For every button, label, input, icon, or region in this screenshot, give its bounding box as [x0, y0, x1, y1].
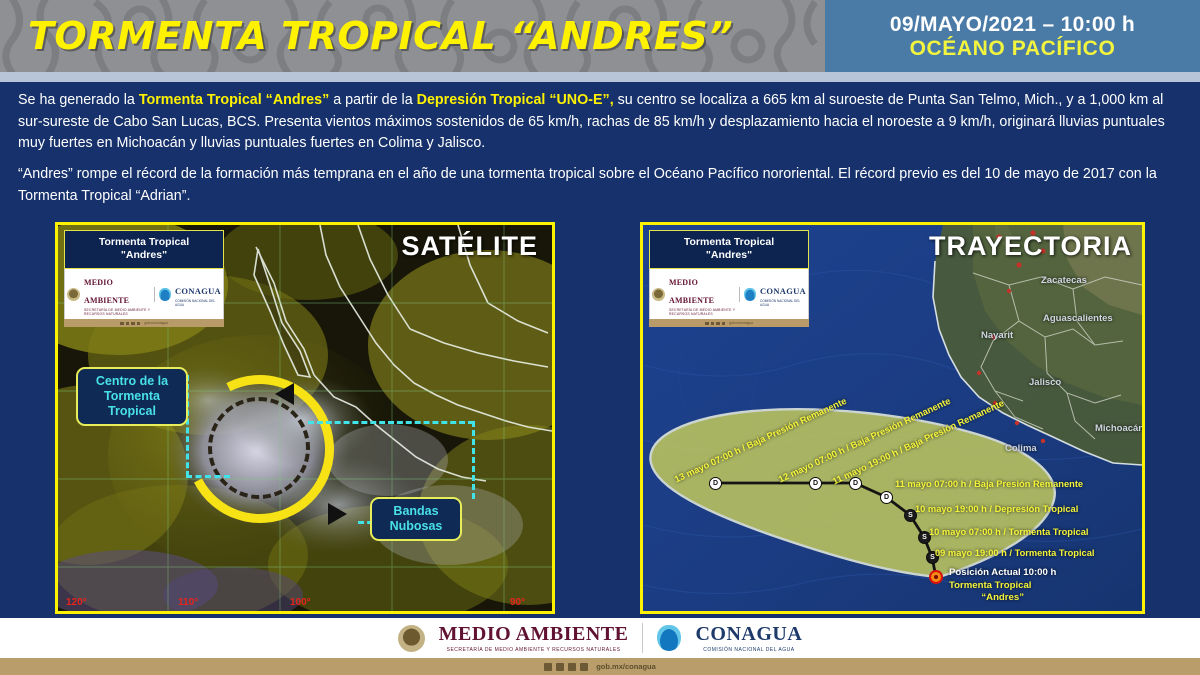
- sat-coord-100: 100°: [290, 597, 311, 608]
- current-position-line2: Tormenta Tropical: [949, 580, 1056, 593]
- mexico-seal-icon: [67, 288, 80, 301]
- current-position-label: Posición Actual 10:00 h Tormenta Tropica…: [949, 567, 1056, 605]
- track-label-10mayo-1900: 10 mayo 19:00 h / Depresión Tropical: [915, 504, 1078, 514]
- facebook-icon[interactable]: [544, 663, 552, 671]
- mexico-seal-icon: [398, 625, 425, 652]
- medio-ambiente-label: MEDIO AMBIENTE: [84, 278, 129, 305]
- logo-divider: [739, 287, 740, 302]
- medio-ambiente-sublabel: SECRETARÍA DE MEDIO AMBIENTE Y RECURSOS …: [669, 308, 735, 316]
- footer-url[interactable]: gob.mx/conagua: [596, 662, 656, 671]
- header: TORMENTA TROPICAL “ANDRES” 09/MAYO/2021 …: [0, 0, 1200, 72]
- track-label-11mayo-0700: 11 mayo 07:00 h / Baja Presión Remanente: [895, 479, 1083, 489]
- youtube-icon[interactable]: [137, 322, 141, 326]
- footer-social-bar: gob.mx/conagua: [0, 658, 1200, 675]
- conagua-label: CONAGUA: [760, 286, 806, 296]
- header-title-band: TORMENTA TROPICAL “ANDRES”: [0, 0, 825, 72]
- annotation-cloud-bands: Bandas Nubosas: [370, 497, 462, 541]
- header-divider-2: [0, 82, 1200, 85]
- track-point-12mayo-0700[interactable]: D: [809, 477, 822, 490]
- trajectory-logo-box: Tormenta Tropical "Andres" MEDIO AMBIENT…: [649, 230, 809, 327]
- track-logo-url[interactable]: gob.mx/conagua: [729, 321, 753, 325]
- conagua-sublabel: COMISIÓN NACIONAL DEL AGUA: [175, 299, 221, 307]
- conagua-label: CONAGUA: [175, 286, 221, 296]
- header-meta-band: 09/MAYO/2021 – 10:00 h OCÉANO PACÍFICO: [825, 0, 1200, 72]
- sat-coord-110: 110°: [178, 597, 198, 608]
- p1-highlight-depression: Depresión Tropical “UNO-E”,: [417, 92, 614, 108]
- conagua-sublabel: COMISIÓN NACIONAL DEL AGUA: [760, 299, 806, 307]
- annotation-storm-center: Centro de la Tormenta Tropical: [76, 367, 188, 426]
- current-position-line3: “Andres”: [949, 592, 1056, 605]
- leader-line-bandas-vert: [472, 421, 475, 499]
- water-drop-icon: [159, 288, 171, 301]
- header-divider: [0, 72, 1200, 82]
- youtube-icon[interactable]: [722, 322, 726, 326]
- footer-medio-ambiente-sub: SECRETARÍA DE MEDIO AMBIENTE Y RECURSOS …: [439, 647, 629, 653]
- sat-coord-120: 120°: [66, 597, 87, 608]
- bulletin-region: OCÉANO PACÍFICO: [910, 37, 1116, 61]
- footer-conagua: CONAGUA: [695, 623, 802, 645]
- instagram-icon[interactable]: [716, 322, 720, 326]
- water-drop-icon: [744, 288, 756, 301]
- sat-coord-90: 90°: [510, 597, 525, 608]
- trajectory-panel[interactable]: Zacatecas Aguascalientes Nayarit Jalisco…: [640, 222, 1145, 614]
- medio-ambiente-label: MEDIO AMBIENTE: [669, 278, 714, 305]
- bulletin-paragraph-2: “Andres” rompe el récord de la formación…: [18, 164, 1186, 207]
- track-label-10mayo-0700: 10 mayo 07:00 h / Tormenta Tropical: [929, 527, 1088, 537]
- footer-medio-ambiente: MEDIO AMBIENTE: [439, 623, 629, 645]
- track-label-09mayo-1900: 09 mayo 19:00 h / Tormenta Tropical: [935, 548, 1094, 558]
- track-logo-brands: MEDIO AMBIENTE SECRETARÍA DE MEDIO AMBIE…: [649, 269, 809, 319]
- track-logo-title-line2: "Andres": [653, 249, 805, 262]
- p1-highlight-storm: Tormenta Tropical “Andres”: [139, 92, 329, 108]
- logo-box-title: Tormenta Tropical "Andres": [64, 230, 224, 269]
- leader-line-bandas-top: [308, 421, 474, 424]
- page-title: TORMENTA TROPICAL “ANDRES”: [28, 14, 733, 58]
- youtube-icon[interactable]: [580, 663, 588, 671]
- satellite-panel[interactable]: 120° 110° 100° 90° Centro de la Tormenta…: [55, 222, 555, 614]
- footer-conagua-sub: COMISIÓN NACIONAL DEL AGUA: [695, 647, 802, 653]
- track-logo-title-line1: Tormenta Tropical: [653, 236, 805, 249]
- medio-ambiente-sublabel: SECRETARÍA DE MEDIO AMBIENTE Y RECURSOS …: [84, 308, 150, 316]
- trajectory-caption: TRAYECTORIA: [929, 231, 1132, 262]
- facebook-icon[interactable]: [705, 322, 709, 326]
- storm-center-circle: [208, 397, 310, 499]
- instagram-icon[interactable]: [131, 322, 135, 326]
- footer-brands: MEDIO AMBIENTE SECRETARÍA DE MEDIO AMBIE…: [0, 618, 1200, 658]
- facebook-icon[interactable]: [120, 322, 124, 326]
- footer: MEDIO AMBIENTE SECRETARÍA DE MEDIO AMBIE…: [0, 618, 1200, 675]
- p1-part-b: a partir de la: [329, 92, 416, 108]
- leader-line-centro-bottom: [186, 475, 230, 478]
- satellite-logo-box: Tormenta Tropical "Andres" MEDIO AMBIENT…: [64, 230, 224, 327]
- track-logo-social-bar: gob.mx/conagua: [649, 319, 809, 327]
- bulletin-paragraph-1: Se ha generado la Tormenta Tropical “And…: [18, 90, 1186, 155]
- p1-part-a: Se ha generado la: [18, 92, 139, 108]
- instagram-icon[interactable]: [568, 663, 576, 671]
- logo-box-title-line1: Tormenta Tropical: [68, 236, 220, 249]
- mexico-seal-icon: [652, 288, 665, 301]
- footer-divider: [642, 623, 643, 653]
- bulletin-text: Se ha generado la Tormenta Tropical “And…: [18, 90, 1186, 217]
- rotation-arrow-upper-icon: [266, 383, 294, 405]
- track-point-current-position[interactable]: [929, 570, 943, 584]
- twitter-icon[interactable]: [126, 322, 130, 326]
- track-logo-box-title: Tormenta Tropical "Andres": [649, 230, 809, 269]
- rotation-arrow-lower-icon: [328, 503, 356, 525]
- logo-box-social-bar: gob.mx/conagua: [64, 319, 224, 327]
- logo-box-url[interactable]: gob.mx/conagua: [144, 321, 168, 325]
- water-drop-icon: [657, 625, 681, 651]
- logo-divider: [154, 287, 155, 302]
- current-position-line1: Posición Actual 10:00 h: [949, 567, 1056, 580]
- track-point-13mayo-0700[interactable]: D: [709, 477, 722, 490]
- logo-box-title-line2: "Andres": [68, 249, 220, 262]
- satellite-caption: SATÉLITE: [401, 231, 538, 262]
- twitter-icon[interactable]: [556, 663, 564, 671]
- twitter-icon[interactable]: [711, 322, 715, 326]
- infographic-page: TORMENTA TROPICAL “ANDRES” 09/MAYO/2021 …: [0, 0, 1200, 675]
- logo-box-brands: MEDIO AMBIENTE SECRETARÍA DE MEDIO AMBIE…: [64, 269, 224, 319]
- track-point-11mayo-0700[interactable]: D: [880, 491, 893, 504]
- bulletin-datetime: 09/MAYO/2021 – 10:00 h: [890, 13, 1135, 37]
